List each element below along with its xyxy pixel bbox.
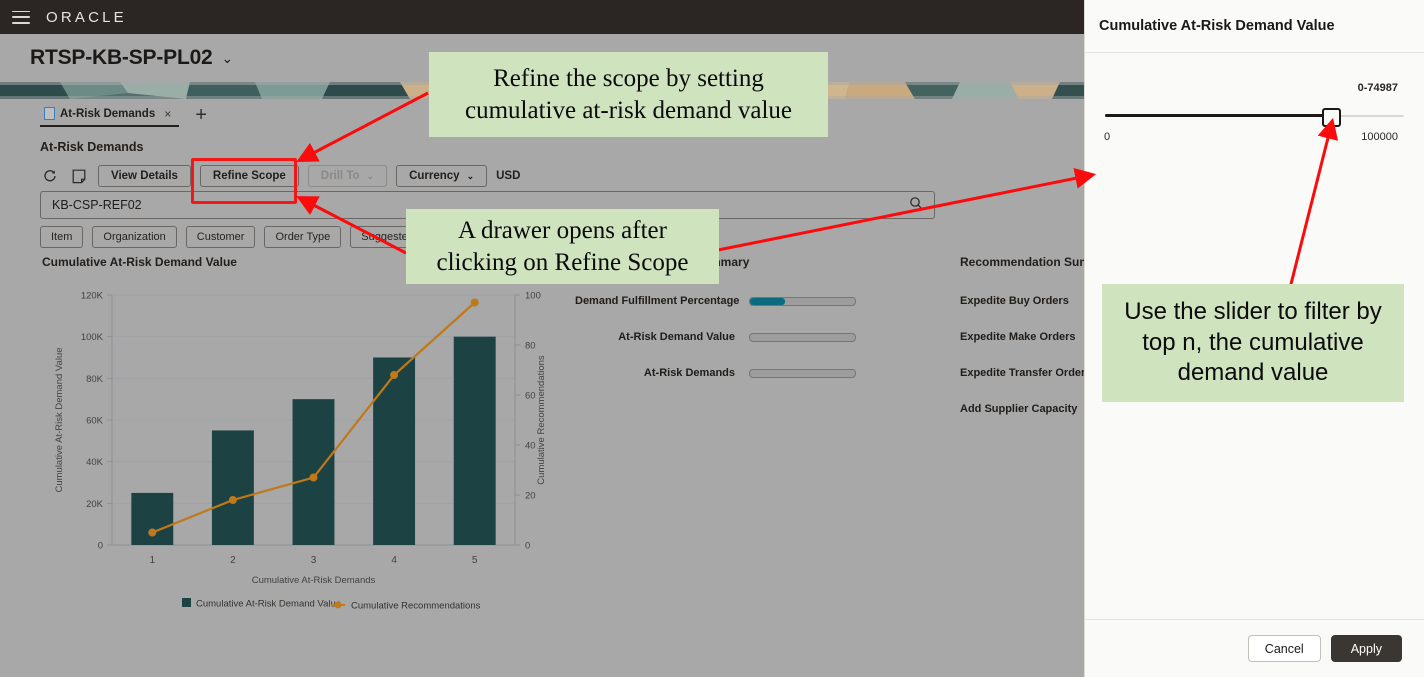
svg-text:1: 1 <box>150 555 156 566</box>
annotation-callout-refine-scope: Refine the scope by setting cumulative a… <box>429 52 828 137</box>
currency-label: Currency <box>409 170 460 182</box>
svg-text:3: 3 <box>311 555 317 566</box>
callout-line: Use the slider to filter by <box>1124 297 1381 328</box>
demand-row-label: Demand Fulfillment Percentage <box>575 295 743 307</box>
currency-value: USD <box>496 170 520 182</box>
svg-text:Cumulative At-Risk Demand Valu: Cumulative At-Risk Demand Value <box>196 599 341 610</box>
svg-text:0: 0 <box>525 541 530 552</box>
close-icon[interactable]: × <box>164 108 171 120</box>
progress-bar <box>749 369 856 378</box>
progress-bar <box>749 333 856 342</box>
svg-text:20K: 20K <box>86 499 104 510</box>
callout-line: demand value <box>1178 358 1329 389</box>
svg-text:Cumulative Recommendations: Cumulative Recommendations <box>351 601 481 612</box>
svg-text:Cumulative Recommendations: Cumulative Recommendations <box>536 355 547 485</box>
oracle-logo: ORACLE <box>46 9 127 26</box>
svg-text:40K: 40K <box>86 457 104 468</box>
view-details-button[interactable]: View Details <box>98 165 191 187</box>
progress-bar <box>749 297 856 306</box>
slider-max-label: 100000 <box>1361 131 1398 143</box>
toolbar: View Details Refine Scope Drill To ⌄ Cur… <box>40 165 520 187</box>
hamburger-icon[interactable] <box>12 11 30 24</box>
search-icon[interactable] <box>909 196 923 215</box>
svg-text:100: 100 <box>525 291 541 302</box>
document-icon <box>44 107 55 120</box>
tab-label: At-Risk Demands <box>60 108 155 120</box>
drill-to-label: Drill To <box>321 170 360 182</box>
tab-at-risk-demands[interactable]: At-Risk Demands × <box>40 107 179 127</box>
add-tab-button[interactable]: + <box>195 105 207 125</box>
currency-button[interactable]: Currency ⌄ <box>396 165 487 187</box>
cumulative-demand-slider[interactable] <box>1105 108 1404 124</box>
section-title: At-Risk Demands <box>40 140 144 154</box>
svg-text:4: 4 <box>391 555 397 566</box>
svg-text:40: 40 <box>525 441 536 452</box>
svg-text:20: 20 <box>525 491 536 502</box>
chevron-down-icon[interactable]: ⌄ <box>222 50 234 67</box>
slider-value-label: 0-74987 <box>1358 82 1398 94</box>
callout-line: Refine the scope by setting <box>493 63 764 95</box>
chip-customer[interactable]: Customer <box>186 226 256 248</box>
svg-text:120K: 120K <box>81 291 104 302</box>
app-root: ORACLE RTSP-KB-SP-PL02 ⌄ <box>0 0 1424 677</box>
drawer-footer: Cancel Apply <box>1085 619 1424 677</box>
svg-text:Cumulative At-Risk Demand Valu: Cumulative At-Risk Demand Value <box>54 347 65 492</box>
svg-text:80K: 80K <box>86 374 104 385</box>
global-header: ORACLE <box>0 0 1085 34</box>
drill-to-button[interactable]: Drill To ⌄ <box>308 165 387 187</box>
callout-line: cumulative at-risk demand value <box>465 95 792 127</box>
svg-text:0: 0 <box>98 541 103 552</box>
annotation-callout-drawer: A drawer opens after clicking on Refine … <box>406 209 719 284</box>
refresh-icon[interactable] <box>40 166 60 186</box>
demand-row: At-Risk Demand Value <box>575 319 955 355</box>
note-icon[interactable] <box>69 166 89 186</box>
demand-row-label: At-Risk Demand Value <box>575 331 743 343</box>
chip-order-type[interactable]: Order Type <box>264 226 341 248</box>
drawer-header: Cumulative At-Risk Demand Value <box>1085 0 1424 53</box>
chevron-down-icon: ⌄ <box>367 171 375 182</box>
svg-text:80: 80 <box>525 341 536 352</box>
annotation-callout-slider: Use the slider to filter by top n, the c… <box>1102 284 1404 402</box>
slider-fill <box>1105 114 1329 117</box>
page-title: RTSP-KB-SP-PL02 <box>30 46 213 70</box>
demand-row: Demand Fulfillment Percentage <box>575 283 955 319</box>
chip-organization[interactable]: Organization <box>92 226 176 248</box>
progress-bar-fill <box>750 298 785 305</box>
refine-scope-button[interactable]: Refine Scope <box>200 165 299 187</box>
apply-button[interactable]: Apply <box>1331 635 1402 662</box>
slider-min-label: 0 <box>1104 131 1110 143</box>
demand-row-label: At-Risk Demands <box>575 367 743 379</box>
svg-text:60: 60 <box>525 391 536 402</box>
slider-thumb[interactable] <box>1322 108 1341 127</box>
demand-row: At-Risk Demands <box>575 355 955 391</box>
drawer-title: Cumulative At-Risk Demand Value <box>1099 18 1335 34</box>
svg-text:5: 5 <box>472 555 478 566</box>
chart-canvas: 020K40K60K80K100K120K02040608010012345Cu… <box>40 273 560 613</box>
callout-line: clicking on Refine Scope <box>436 247 688 279</box>
svg-text:Cumulative At-Risk Demands: Cumulative At-Risk Demands <box>252 575 376 586</box>
svg-text:2: 2 <box>230 555 236 566</box>
chip-item[interactable]: Item <box>40 226 83 248</box>
svg-text:60K: 60K <box>86 416 104 427</box>
cancel-button[interactable]: Cancel <box>1248 635 1321 662</box>
chevron-down-icon: ⌄ <box>467 171 475 182</box>
cumulative-at-risk-demand-chart: Cumulative At-Risk Demand Value 020K40K6… <box>40 255 560 600</box>
svg-text:100K: 100K <box>81 332 104 343</box>
callout-line: top n, the cumulative <box>1142 328 1363 359</box>
callout-line: A drawer opens after <box>458 215 667 247</box>
